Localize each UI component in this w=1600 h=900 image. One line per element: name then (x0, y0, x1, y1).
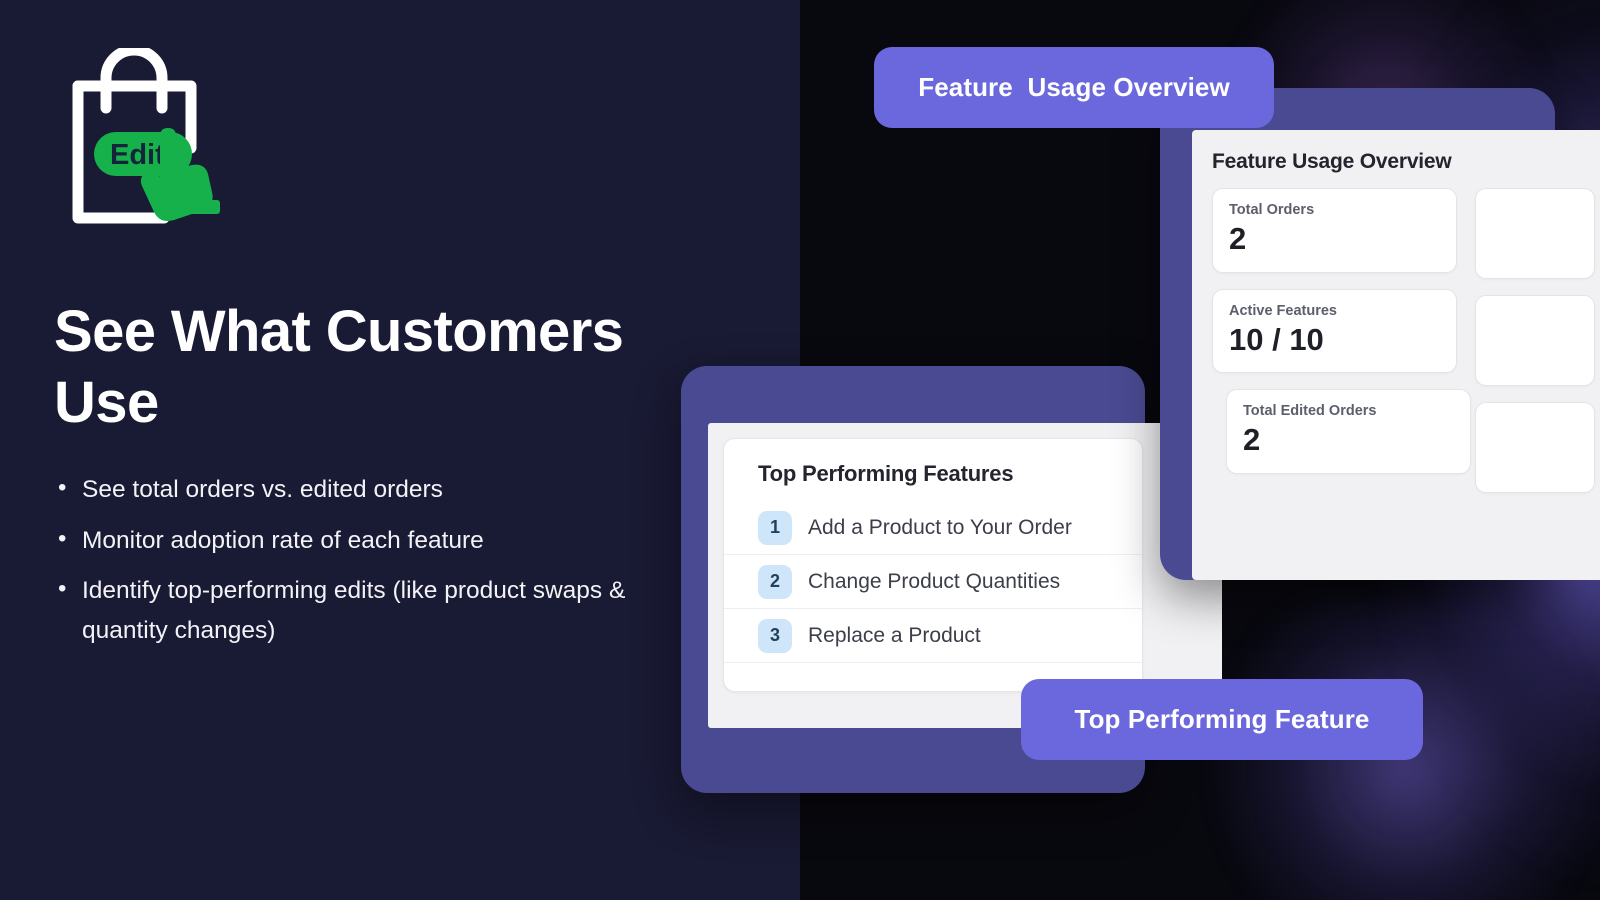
feature-name: Add a Product to Your Order (808, 516, 1072, 540)
stat-value: 10 / 10 (1229, 324, 1440, 357)
shopping-bag-edit-icon: Edit (56, 48, 246, 228)
feature-name: Replace a Product (808, 624, 981, 648)
stat-card-active-features: Active Features 10 / 10 (1212, 289, 1457, 374)
stat-value: 2 (1229, 223, 1440, 256)
page-title: See What Customers Use (54, 296, 704, 439)
stat-label: Total Edited Orders (1243, 403, 1454, 419)
feature-usage-overview-mockup-frame: Feature Usage Overview Total Orders 2 Ac… (1160, 88, 1555, 580)
stat-label: Total Orders (1229, 202, 1440, 218)
feature-usage-overview-title: Feature Usage Overview (1212, 150, 1452, 174)
stat-card-total-edited-orders: Total Edited Orders 2 (1226, 389, 1471, 474)
callout-feature-usage-overview[interactable]: Feature Usage Overview (874, 47, 1274, 128)
feature-usage-overview-panel: Feature Usage Overview Total Orders 2 Ac… (1192, 130, 1600, 580)
rank-badge: 3 (758, 619, 792, 653)
callout-top-performing-feature[interactable]: Top Performing Feature (1021, 679, 1423, 760)
feature-name: Change Product Quantities (808, 570, 1060, 594)
stat-card-partial (1475, 402, 1595, 493)
list-item[interactable]: 2 Change Product Quantities (724, 555, 1142, 609)
svg-text:Edit: Edit (110, 139, 165, 171)
list-item: Monitor adoption rate of each feature (54, 521, 714, 561)
stat-card-partial (1475, 188, 1595, 279)
stat-card-total-orders: Total Orders 2 (1212, 188, 1457, 273)
stat-label: Active Features (1229, 303, 1440, 319)
list-item[interactable]: 1 Add a Product to Your Order (724, 501, 1142, 555)
rank-badge: 2 (758, 565, 792, 599)
list-item: See total orders vs. edited orders (54, 470, 714, 510)
stat-card-partial (1475, 295, 1595, 386)
left-content-column: Edit See What Customers Use See total or… (0, 0, 800, 900)
slide-canvas: Edit See What Customers Use See total or… (0, 0, 1600, 900)
top-performing-features-card: Top Performing Features 1 Add a Product … (723, 438, 1143, 692)
feature-bullet-list: See total orders vs. edited orders Monit… (54, 470, 714, 662)
list-item[interactable]: 3 Replace a Product (724, 609, 1142, 663)
stat-value: 2 (1243, 424, 1454, 457)
top-performing-features-title: Top Performing Features (724, 461, 1142, 501)
list-item: Identify top-performing edits (like prod… (54, 571, 714, 650)
rank-badge: 1 (758, 511, 792, 545)
stat-card-grid-secondary-column (1475, 188, 1595, 509)
